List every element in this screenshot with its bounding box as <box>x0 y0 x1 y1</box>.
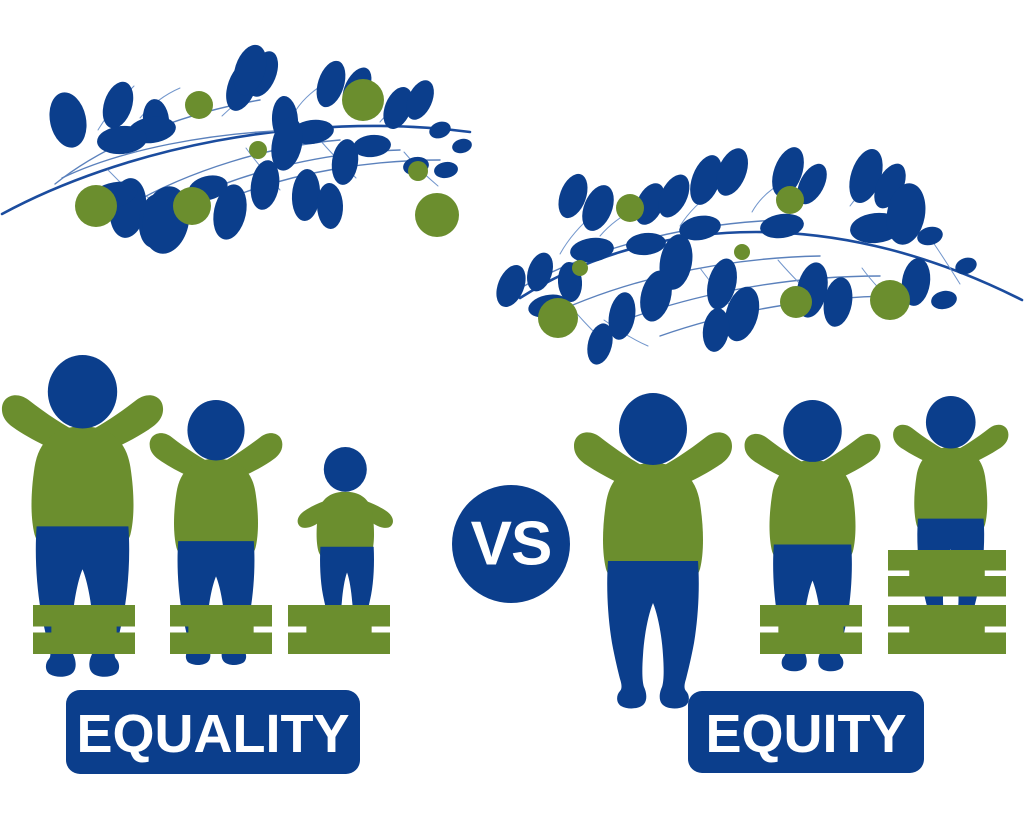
right-crate-2-lower <box>888 605 1006 654</box>
equality-vs-equity-illustration: .b { fill: #0B3E8C; } .g { fill: #6B8E2E… <box>0 0 1024 819</box>
equality-label-text: EQUALITY <box>76 704 349 764</box>
foliage-branch-left <box>2 41 473 258</box>
versus-badge: VS <box>452 485 570 603</box>
equality-label-pill[interactable]: EQUALITY <box>66 690 360 774</box>
left-crate-2 <box>170 605 272 654</box>
infographic-canvas: .b { fill: #0B3E8C; } .g { fill: #6B8E2E… <box>0 0 1024 819</box>
versus-label: VS <box>471 510 552 579</box>
right-crate-1 <box>760 605 862 654</box>
equity-label-pill[interactable]: EQUITY <box>688 691 924 773</box>
equity-label-text: EQUITY <box>705 704 906 764</box>
equity-group <box>574 393 1008 708</box>
equality-group <box>2 355 393 677</box>
right-person-tall <box>574 393 732 708</box>
right-crate-2-upper <box>888 550 1006 597</box>
left-crate-3 <box>288 605 390 654</box>
left-person-short <box>298 447 393 632</box>
foliage-branch-right <box>491 143 1022 367</box>
